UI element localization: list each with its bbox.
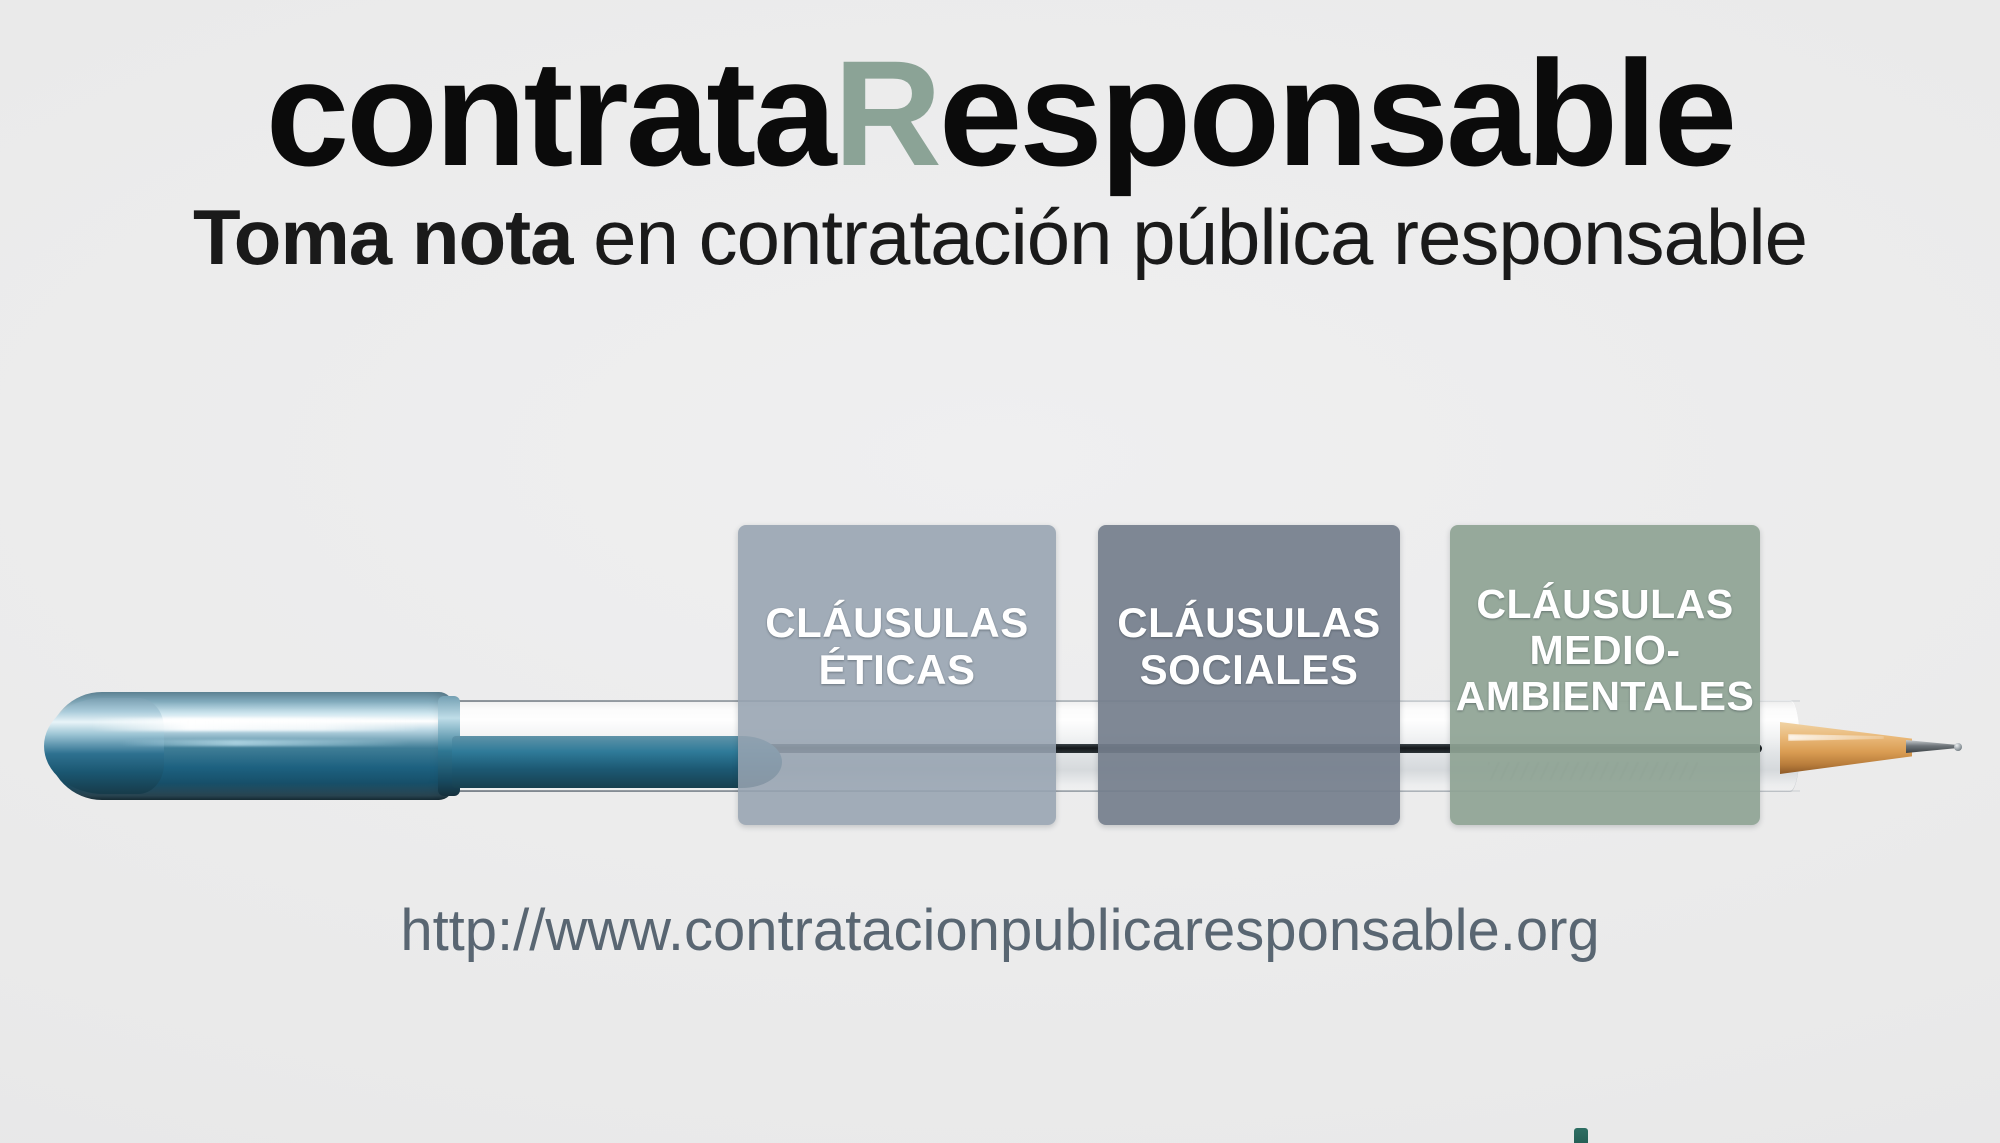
pen-cap-nose [44,698,164,794]
pen-nib [1906,740,1958,753]
pen-cap-highlight [90,718,420,731]
pen-clip-tail [452,736,782,788]
site-url[interactable]: http://www.contratacionpublicaresponsabl… [0,897,2000,964]
bottom-edge-mark [1574,1128,1588,1143]
pen-cap-highlight-secondary [120,740,410,746]
tagline-rest: en contratación pública responsable [573,193,1808,281]
brand-wordmark: contrataResponsable [0,38,2000,188]
brand-prefix: contrata [266,29,834,197]
pen-clip [452,716,702,730]
clause-label-medioambientales: CLÁUSULAS MEDIO- AMBIENTALES [1448,582,1763,720]
clause-label-eticas: CLÁUSULAS ÉTICAS [757,599,1037,693]
poster-canvas: contrataResponsable Toma nota en contrat… [0,0,2000,1143]
clause-box-medioambientales[interactable]: CLÁUSULAS MEDIO- AMBIENTALES [1450,525,1760,825]
clause-box-eticas[interactable]: CLÁUSULAS ÉTICAS [738,525,1056,825]
brand-accent-letter: R [834,29,939,197]
brand-suffix: esponsable [939,29,1734,197]
tagline: Toma nota en contratación pública respon… [0,198,2000,276]
clause-box-sociales[interactable]: CLÁUSULAS SOCIALES [1098,525,1400,825]
pen-cone-tip [1780,722,1912,774]
tagline-strong: Toma nota [193,193,573,281]
clause-label-sociales: CLÁUSULAS SOCIALES [1109,599,1389,693]
pen-nib-ball [1954,743,1962,751]
